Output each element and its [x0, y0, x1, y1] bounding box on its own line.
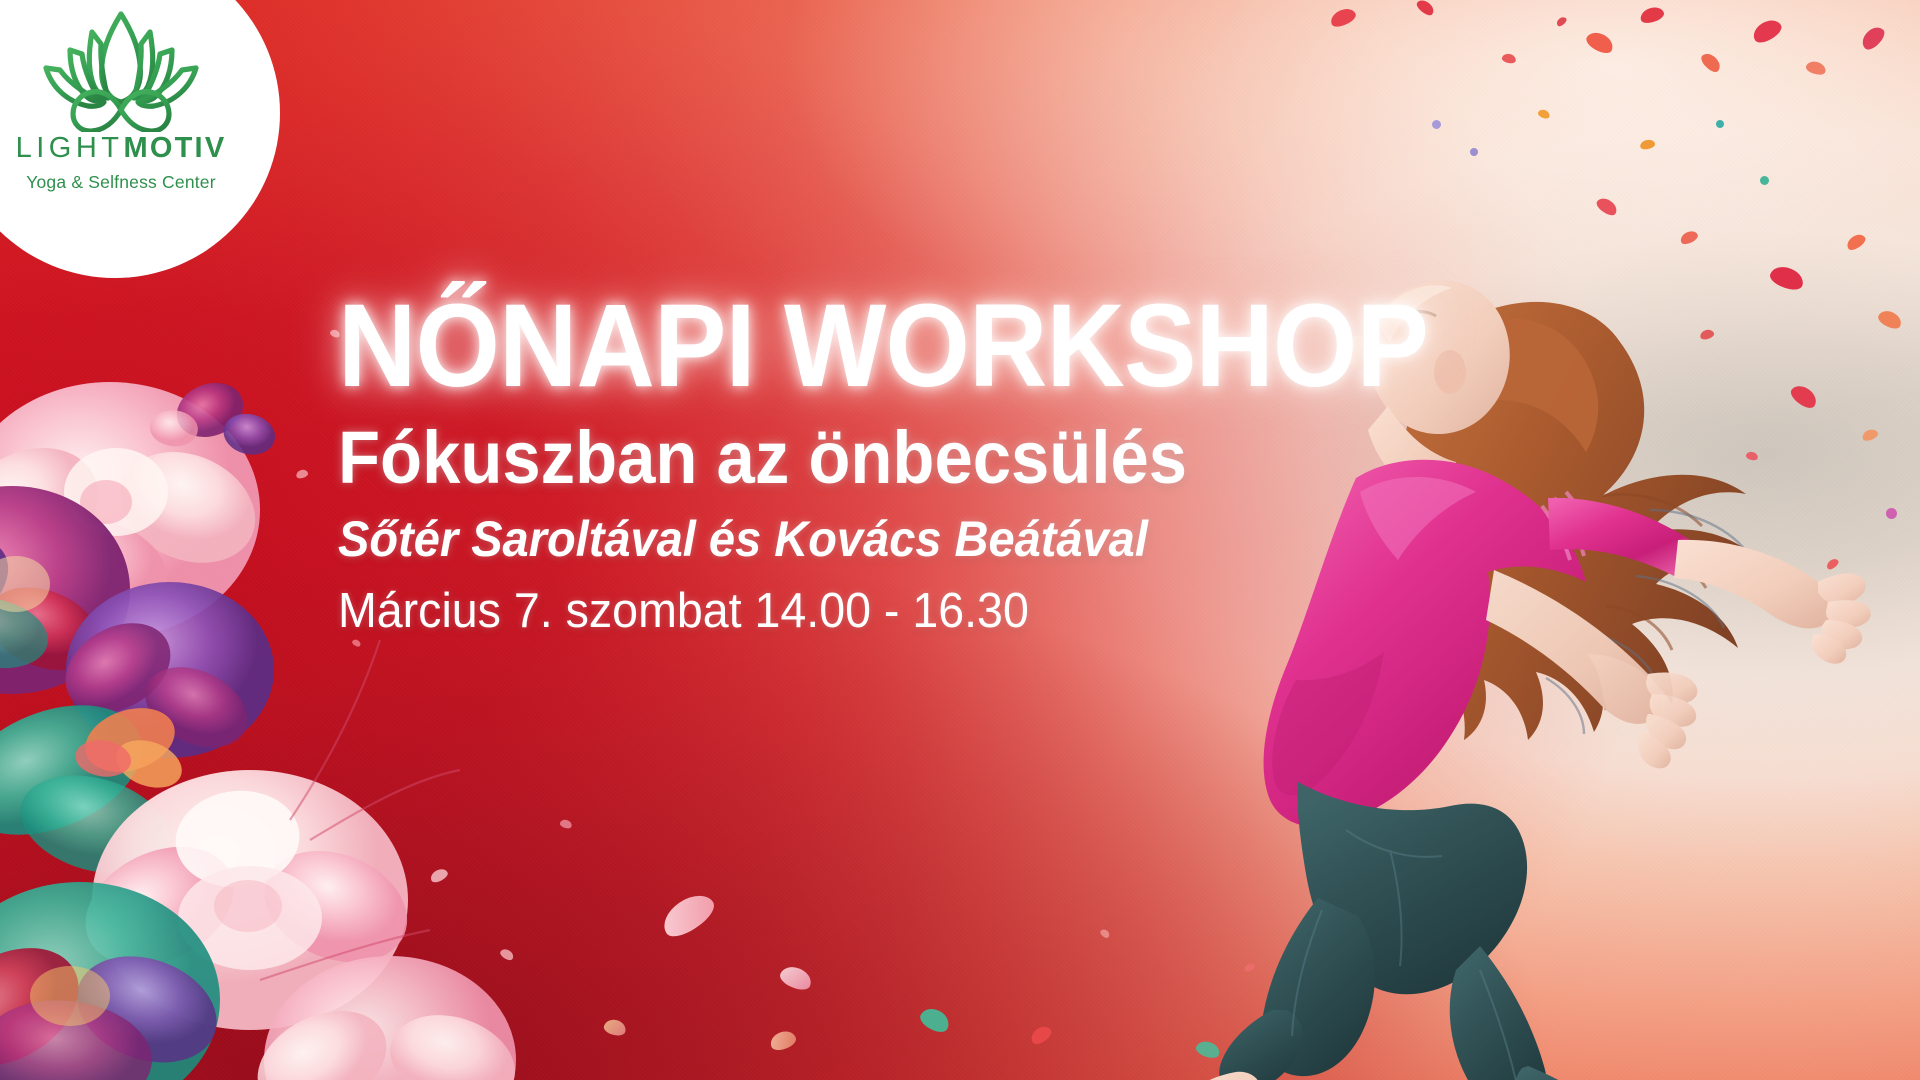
poster-text-block: NŐNAPI WORKSHOP Fókuszban az önbecsülés … [338, 286, 1458, 637]
page-title: NŐNAPI WORKSHOP [338, 286, 1368, 406]
lotus-infinity-icon [26, 6, 216, 132]
logo-wordmark: LIGHTMOTIV [16, 134, 227, 163]
subtitle: Fókuszban az önbecsülés [338, 420, 1380, 497]
promo-poster: NŐNAPI WORKSHOP Fókuszban az önbecsülés … [0, 0, 1920, 1080]
logo-name-bold: MOTIV [124, 132, 227, 164]
logo-name-light: LIGHT [16, 132, 124, 164]
datetime-line: Március 7. szombat 14.00 - 16.30 [338, 586, 1402, 637]
presenters-line: Sőtér Saroltával és Kovács Beátával [338, 513, 1391, 566]
logo-tagline: Yoga & Selfness Center [26, 172, 216, 193]
